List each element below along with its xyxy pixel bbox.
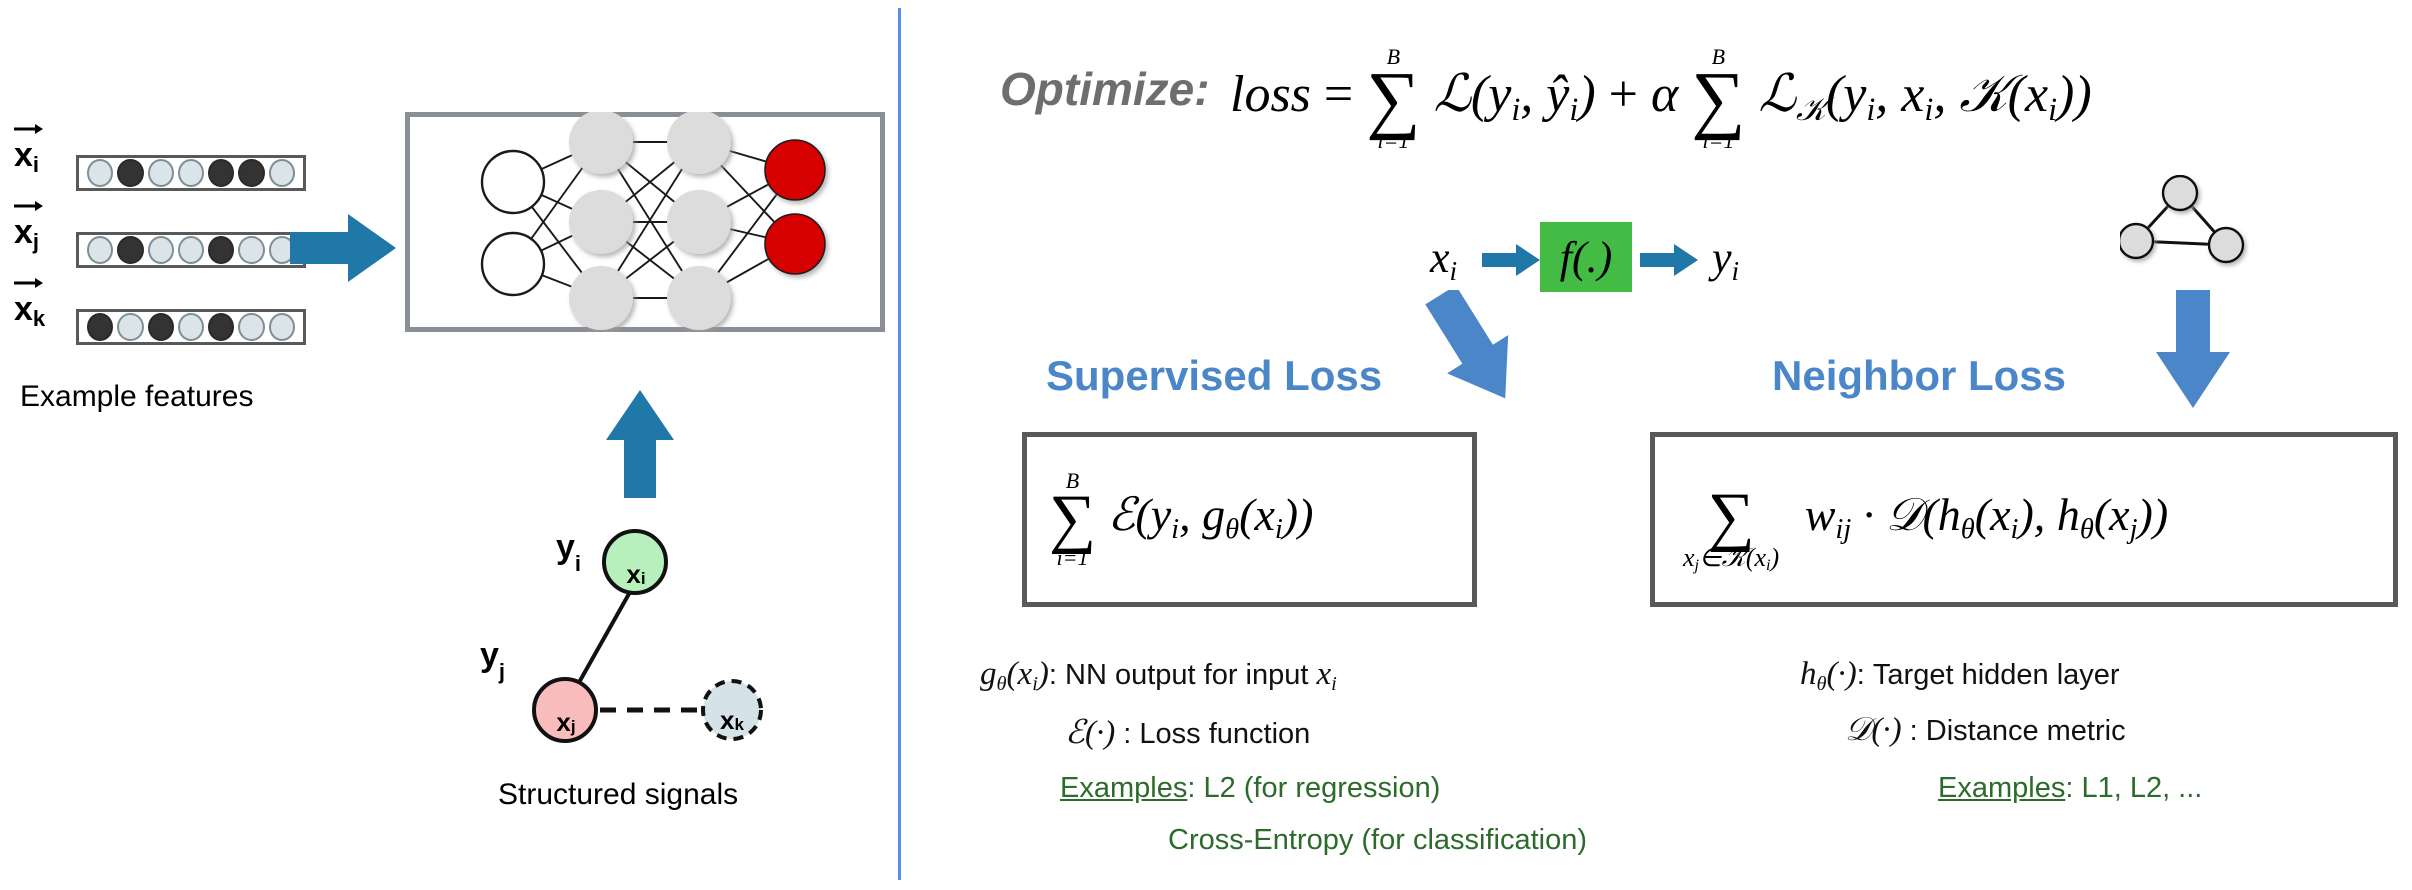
vector-label-xi: xi (14, 138, 39, 172)
sum-lower-limit: xj∈𝒦(xi) (1683, 545, 1779, 571)
feature-vector-xj (76, 232, 306, 268)
graph-node-label-xk: xk (703, 691, 761, 749)
legend-separator: : (1902, 715, 1926, 747)
neighbor-legend-row-2: 𝒟(·) : Distance metric (1845, 712, 2126, 749)
examples-value: : L1, L2, ... (2065, 772, 2202, 804)
feature-cell-on (117, 159, 143, 187)
equation-equals: = (1324, 66, 1353, 123)
neural-network-diagram (405, 112, 885, 332)
node-symbol: x (626, 559, 640, 590)
vector-symbol: x (14, 213, 33, 251)
legend-separator: : (1115, 718, 1139, 750)
vector-subscript: j (33, 229, 39, 254)
nn-hidden-node (569, 112, 633, 174)
neighbor-summation: B ∑ xj∈𝒦(xi) (1683, 468, 1779, 570)
feature-cell-on (238, 159, 264, 187)
neighbor-formula-body: wij · 𝒟(hθ(xi), hθ(xj)) (1805, 489, 2168, 540)
node-symbol: x (720, 705, 734, 736)
examples-value: : L2 (for regression) (1187, 772, 1440, 804)
pipeline-arrow-out-icon (1640, 242, 1700, 278)
vector-label-xk: xk (14, 292, 45, 326)
nn-hidden-node (569, 190, 633, 254)
example-features-caption: Example features (20, 380, 253, 414)
feature-cell-off (87, 159, 113, 187)
vector-subscript: i (33, 152, 39, 177)
vector-arrow-icon (13, 118, 43, 136)
supervised-loss-heading: Supervised Loss (1046, 352, 1382, 400)
supervised-summation: B ∑ i=1 (1049, 470, 1096, 568)
equation-alpha: α (1651, 66, 1678, 123)
legend-separator: : (1857, 659, 1873, 691)
legend-text: NN output for input (1065, 659, 1316, 691)
sum-lower-limit: i=1 (1702, 130, 1734, 152)
legend-math-g-theta: gθ(xi) (980, 656, 1049, 692)
pipeline-output-label: yi (1712, 232, 1739, 283)
summation-2: B ∑ i=1 (1691, 46, 1745, 152)
supervised-legend-row-2: ℰ(·) : Loss function (1065, 712, 1310, 752)
vector-symbol: x (14, 290, 33, 328)
supervised-loss-formula: B ∑ i=1 ℰ(yi, gθ(xi)) (1049, 470, 1313, 568)
pipeline-output-subscript: i (1732, 256, 1740, 286)
neighbor-loss-heading: Neighbor Loss (1772, 352, 2066, 400)
neighbor-examples-line-1: Examples: L1, L2, ... (1938, 772, 2202, 805)
supervised-loss-box: B ∑ i=1 ℰ(yi, gθ(xi)) (1022, 432, 1477, 607)
structured-signals-caption: Structured signals (498, 778, 738, 812)
pipeline-output-symbol: y (1712, 233, 1732, 282)
panel-divider (898, 8, 901, 880)
legend-text: Distance metric (1926, 715, 2126, 747)
vector-label-xj: xj (14, 215, 39, 249)
graph-node-label-xi: xi (605, 543, 667, 605)
feature-cell-on (208, 313, 234, 341)
vector-symbol: x (14, 136, 33, 174)
node-subscript: j (571, 717, 576, 737)
node-symbol: x (556, 707, 570, 738)
legend-math-h-theta: hθ(·) (1800, 656, 1857, 692)
feature-cell-on (87, 313, 113, 341)
feature-cell-off (238, 236, 264, 264)
legend-separator: : (1049, 659, 1065, 691)
legend-math-xi: xi (1317, 656, 1337, 692)
pipeline-input-symbol: x (1430, 233, 1450, 282)
neighbor-term: ℒ𝒦(yi, xi, 𝒦(xi)) (1758, 66, 2091, 123)
pipeline-input-label: xi (1430, 232, 1457, 283)
model-function-box: f(.) (1540, 222, 1632, 292)
examples-label: Examples (1060, 772, 1187, 804)
y-symbol: y (480, 636, 499, 674)
sum-lower-limit: i=1 (1377, 130, 1409, 152)
model-function-label: f(.) (1560, 232, 1613, 283)
y-subscript: j (499, 659, 505, 684)
sum-lower-limit: i=1 (1057, 547, 1089, 569)
feature-cell-off (148, 236, 174, 264)
neighbor-loss-arrow-icon (2150, 290, 2236, 410)
optimize-label: Optimize: (1000, 62, 1210, 116)
feature-cell-on (117, 236, 143, 264)
neighbor-loss-box: B ∑ xj∈𝒦(xi) wij · 𝒟(hθ(xi), hθ(xj)) (1650, 432, 2398, 607)
legend-math-E: ℰ(·) (1065, 715, 1115, 751)
feature-cell-off (238, 313, 264, 341)
vector-arrow-icon (13, 272, 43, 290)
feature-vector-xk (76, 309, 306, 345)
nn-input-node (482, 151, 544, 213)
y-subscript: i (575, 551, 581, 576)
feature-cell-off (269, 313, 295, 341)
signals-to-network-arrow-icon (600, 390, 680, 500)
feature-cell-on (148, 313, 174, 341)
examples-label: Examples (1938, 772, 2065, 804)
feature-cell-off (178, 236, 204, 264)
nn-input-node (482, 233, 544, 295)
nn-hidden-node (569, 266, 633, 330)
supervised-loss-arrow-icon (1410, 290, 1540, 410)
equation-lhs: loss (1230, 66, 1311, 123)
legend-text: Loss function (1139, 718, 1310, 750)
nn-hidden-node (667, 112, 731, 174)
nn-output-node (765, 140, 825, 200)
neighbor-graph-icon (2120, 175, 2250, 275)
vector-subscript: k (33, 306, 45, 331)
feature-cell-off (87, 236, 113, 264)
main-loss-equation: loss = B ∑ i=1 ℒ(yi, ŷi) + α B ∑ i=1 ℒ𝒦(… (1230, 46, 2092, 152)
y-symbol: y (556, 528, 575, 566)
supervised-term: ℒ(yi, ŷi) (1433, 66, 1595, 123)
graph-y-label-yj: yj (480, 636, 505, 680)
legend-text: Target hidden layer (1873, 659, 2120, 691)
feature-vector-xi (76, 155, 306, 191)
features-to-network-arrow-icon (290, 208, 400, 288)
nn-hidden-node (667, 266, 731, 330)
graph-y-label-yi: yi (556, 528, 581, 572)
neighbor-loss-formula: B ∑ xj∈𝒦(xi) wij · 𝒟(hθ(xi), hθ(xj)) (1683, 468, 2168, 570)
summation-1: B ∑ i=1 (1366, 46, 1420, 152)
graph-node-label-xj: xj (535, 691, 597, 753)
node-subscript: i (641, 569, 646, 589)
node-subscript: k (735, 715, 744, 735)
nn-hidden-node (667, 190, 731, 254)
neighbor-legend-row-1: hθ(·): Target hidden layer (1800, 656, 2120, 693)
feature-cell-on (208, 236, 234, 264)
vector-arrow-icon (13, 195, 43, 213)
pipeline-arrow-in-icon (1482, 242, 1542, 278)
pipeline-input-subscript: i (1450, 256, 1458, 286)
equation-plus: + (1609, 66, 1638, 123)
supervised-examples-line-2: Cross-Entropy (for classification) (1168, 824, 1587, 857)
feature-cell-off (117, 313, 143, 341)
supervised-examples-line-1: Examples: L2 (for regression) (1060, 772, 1440, 805)
feature-cell-off (148, 159, 174, 187)
nn-output-node (765, 214, 825, 274)
feature-cell-off (178, 159, 204, 187)
legend-math-D: 𝒟(·) (1845, 712, 1902, 748)
feature-cell-off (269, 159, 295, 187)
supervised-legend-row-1: gθ(xi): NN output for input xi (980, 656, 1337, 693)
feature-cell-off (178, 313, 204, 341)
supervised-formula-body: ℰ(yi, gθ(xi)) (1108, 489, 1314, 540)
feature-cell-on (208, 159, 234, 187)
